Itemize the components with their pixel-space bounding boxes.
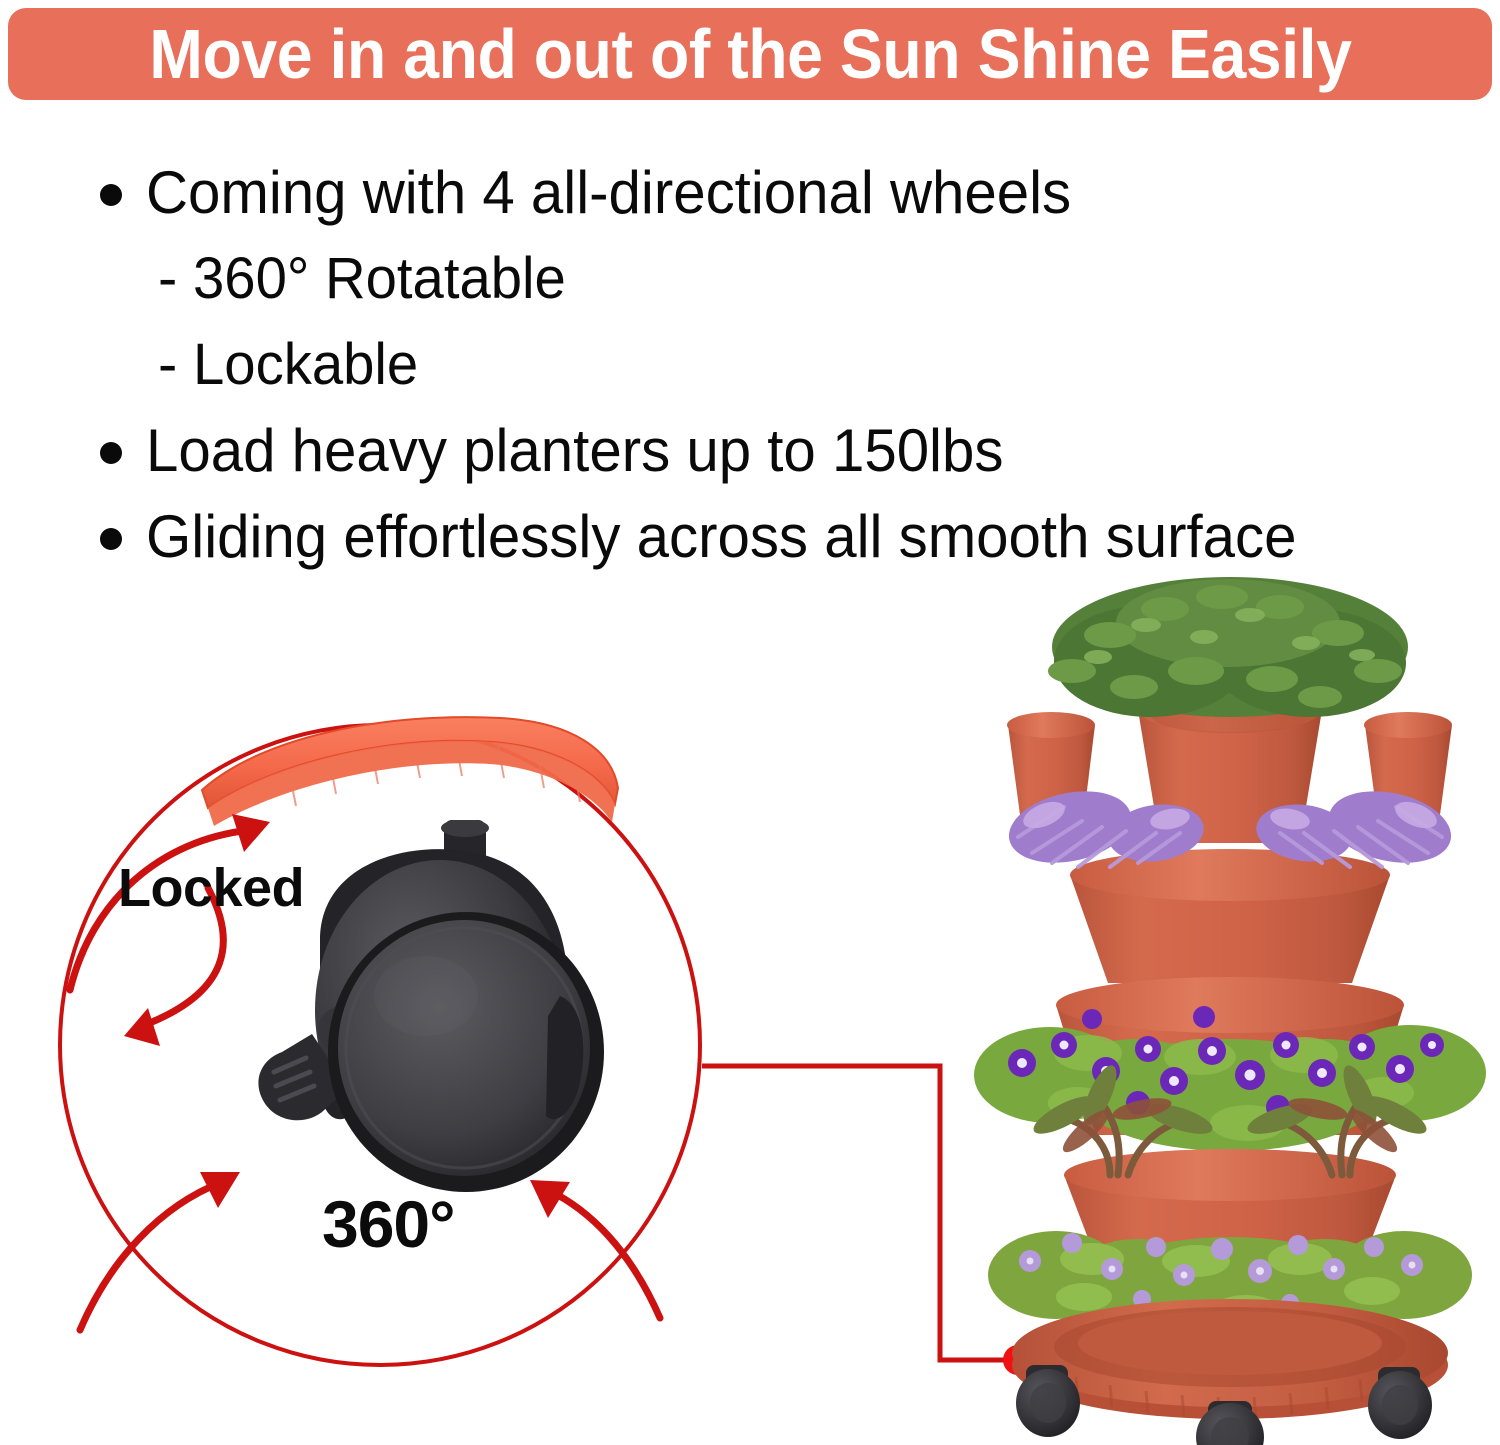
dash-marker-icon: - [158,322,177,408]
list-item-label: Load heavy planters up to 150lbs [146,408,1003,494]
list-item-label: Gliding effortlessly across all smooth s… [146,494,1296,580]
list-item-label: Coming with 4 all-directional wheels [146,150,1071,236]
list-item-label: 360° Rotatable [193,236,566,322]
list-item: Load heavy planters up to 150lbs [100,408,1480,494]
list-item: Gliding effortlessly across all smooth s… [100,494,1480,580]
caster-callout [0,690,760,1390]
locked-label: Locked [118,857,304,919]
list-item: - 360° Rotatable [100,236,1480,322]
list-item: Coming with 4 all-directional wheels [100,150,1480,236]
banner-title: Move in and out of the Sun Shine Easily [149,19,1351,89]
bullet-dot-icon [100,528,122,550]
feature-list: Coming with 4 all-directional wheels - 3… [100,150,1480,580]
bullet-dot-icon [100,442,122,464]
dash-marker-icon: - [158,236,177,322]
bullet-dot-icon [100,184,122,206]
product-image-planter-tower [960,575,1500,1445]
list-item: - Lockable [100,322,1480,408]
rotation-arrows-group [0,690,760,1390]
header-banner: Move in and out of the Sun Shine Easily [8,8,1492,100]
rolling-base-caddy [1012,1299,1448,1445]
rotation-label: 360° [322,1186,455,1262]
list-item-label: Lockable [193,322,418,408]
